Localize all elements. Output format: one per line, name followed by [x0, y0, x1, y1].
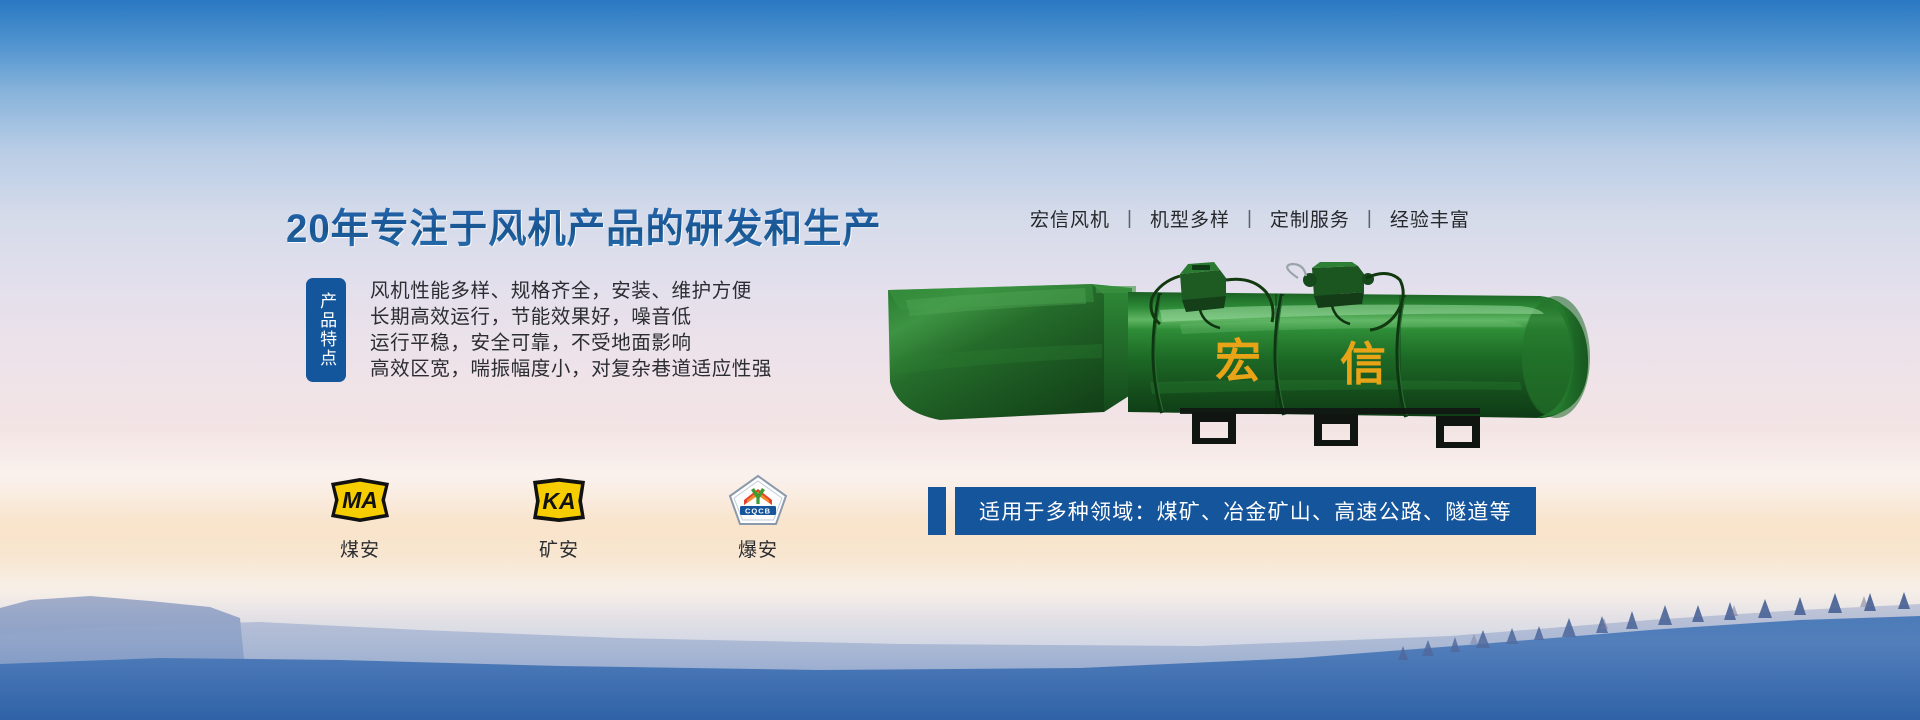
- feature-line: 高效区宽，喘振幅度小，对复杂巷道适应性强: [370, 360, 772, 380]
- keyword-nav: 宏信风机 | 机型多样 | 定制服务 | 经验丰富: [1030, 205, 1470, 232]
- banner-gap: [946, 487, 955, 535]
- nav-separator: |: [1247, 208, 1253, 230]
- certification-label: 爆安: [738, 535, 778, 562]
- brand-char-2: 信: [1340, 338, 1386, 390]
- nav-keyword-4[interactable]: 经验丰富: [1390, 205, 1470, 232]
- feature-line: 运行平稳，安全可靠，不受地面影响: [370, 334, 772, 354]
- mountain-silhouette: [0, 560, 1920, 720]
- certification-label: 矿安: [539, 535, 579, 562]
- ma-shield-icon: MA: [327, 474, 393, 526]
- certification-item: CQCB 爆安: [720, 474, 796, 562]
- product-features: 产品特点 风机性能多样、规格齐全，安装、维护方便 长期高效运行，节能效果好，噪音…: [306, 278, 772, 382]
- nav-separator: |: [1127, 208, 1133, 230]
- nav-keyword-3[interactable]: 定制服务: [1270, 205, 1350, 232]
- banner-accent-block: [928, 487, 946, 535]
- features-list: 风机性能多样、规格齐全，安装、维护方便 长期高效运行，节能效果好，噪音低 运行平…: [370, 278, 772, 382]
- hero-banner: 20年专注于风机产品的研发和生产 宏信风机 | 机型多样 | 定制服务 | 经验…: [0, 0, 1920, 720]
- certification-label: 煤安: [340, 535, 380, 562]
- feature-line: 长期高效运行，节能效果好，噪音低: [370, 308, 772, 328]
- application-banner: 适用于多种领域：煤矿、冶金矿山、高速公路、隧道等: [928, 487, 1536, 535]
- feature-line: 风机性能多样、规格齐全，安装、维护方便: [370, 282, 772, 302]
- product-image-fan: 宏 信: [880, 262, 1640, 462]
- brand-char-1: 宏: [1215, 335, 1261, 387]
- banner-text: 适用于多种领域：煤矿、冶金矿山、高速公路、隧道等: [955, 487, 1536, 535]
- certification-item: KA 矿安: [521, 474, 597, 562]
- nav-keyword-1[interactable]: 宏信风机: [1030, 205, 1110, 232]
- nav-keyword-2[interactable]: 机型多样: [1150, 205, 1230, 232]
- svg-text:MA: MA: [342, 487, 378, 513]
- ka-shield-icon: KA: [528, 474, 590, 526]
- svg-text:CQCB: CQCB: [745, 506, 771, 515]
- certification-item: MA 煤安: [322, 474, 398, 562]
- nav-separator: |: [1367, 208, 1373, 230]
- svg-text:KA: KA: [542, 488, 575, 514]
- features-badge: 产品特点: [306, 278, 346, 382]
- cqcb-pentagon-icon: CQCB: [727, 474, 789, 526]
- certification-badges: MA 煤安 KA 矿安: [322, 474, 796, 562]
- page-title: 20年专注于风机产品的研发和生产: [286, 196, 882, 254]
